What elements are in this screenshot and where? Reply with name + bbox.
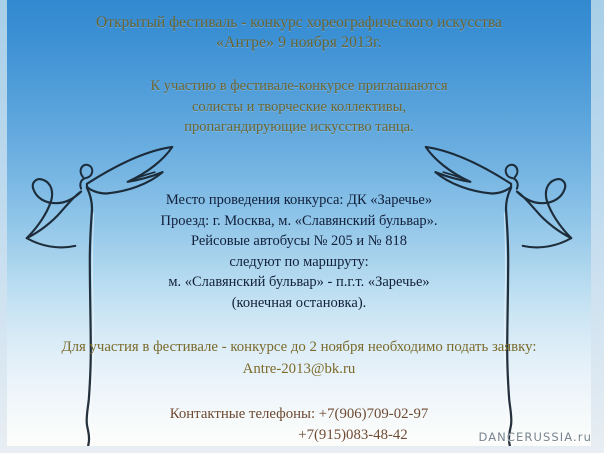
poster-title: Открытый фестиваль - конкурс хореографич… bbox=[7, 13, 591, 53]
venue-and-directions: Место проведения конкурса: ДК «Заречье» … bbox=[7, 190, 591, 313]
poster-text-layer: Открытый фестиваль - конкурс хореографич… bbox=[7, 0, 591, 446]
application-deadline-line: Для участия в фестивале - конкурсе до 2 … bbox=[7, 336, 591, 358]
venue-line-1: Место проведения конкурса: ДК «Заречье» bbox=[7, 190, 591, 211]
invitation-paragraph: К участию в фестивале-конкурсе приглашаю… bbox=[7, 76, 591, 138]
festival-poster: Открытый фестиваль - конкурс хореографич… bbox=[0, 0, 604, 453]
venue-line-4: следуют по маршруту: bbox=[7, 252, 591, 273]
poster-title-line-1: Открытый фестиваль - конкурс хореографич… bbox=[7, 13, 591, 33]
venue-line-3: Рейсовые автобусы № 205 и № 818 bbox=[7, 231, 591, 252]
application-instructions: Для участия в фестивале - конкурсе до 2 … bbox=[7, 336, 591, 380]
application-email[interactable]: Antre-2013@bk.ru bbox=[7, 358, 591, 380]
contact-phones-primary: Контактные телефоны: +7(906)709-02-97 bbox=[7, 404, 591, 425]
site-watermark: DANCERUSSIA.ru bbox=[478, 430, 592, 444]
venue-line-5: м. «Славянский бульвар» - п.г.т. «Заречь… bbox=[7, 272, 591, 293]
invitation-line-2: солисты и творческие коллективы, bbox=[7, 97, 591, 118]
venue-line-6: (конечная остановка). bbox=[7, 293, 591, 314]
invitation-line-1: К участию в фестивале-конкурсе приглашаю… bbox=[7, 76, 591, 97]
venue-line-2: Проезд: г. Москва, м. «Славянский бульва… bbox=[7, 211, 591, 232]
invitation-line-3: пропагандирующие искусство танца. bbox=[7, 117, 591, 138]
poster-title-line-2: «Антре» 9 ноября 2013г. bbox=[7, 33, 591, 53]
